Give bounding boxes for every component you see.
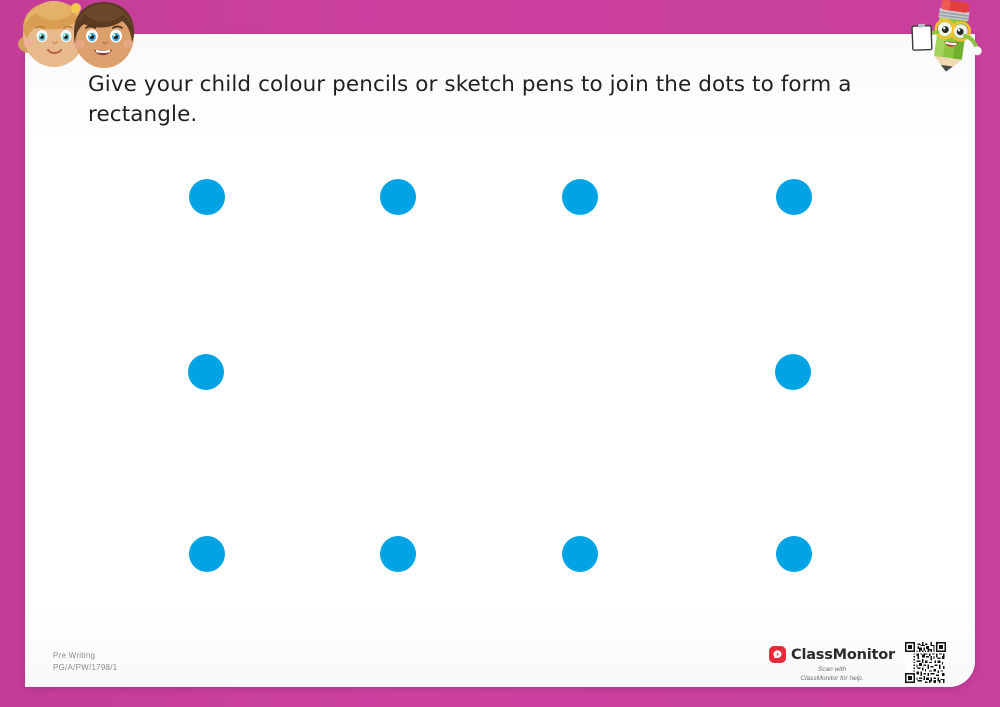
brand-tagline-line1: Scan with: [769, 666, 895, 675]
brand-tagline-line2: ClassMonitor for help.: [769, 675, 895, 684]
dot-r1-c4[interactable]: [776, 179, 812, 215]
brand-text-wrap: ClassMonitor Scan with ClassMonitor for …: [769, 642, 895, 683]
qr-code-icon[interactable]: [905, 642, 946, 683]
dot-r3-c3[interactable]: [562, 536, 598, 572]
worksheet-page: Give your child colour pencils or sketch…: [0, 0, 1000, 707]
dot-r3-c4[interactable]: [776, 536, 812, 572]
page-title: Give your child colour pencils or sketch…: [88, 70, 928, 130]
dot-r2-c1[interactable]: [188, 354, 224, 390]
dot-r3-c2[interactable]: [380, 536, 416, 572]
dot-r2-c4[interactable]: [775, 354, 811, 390]
footer-worksheet-code: Pre Writing PG/A/PW/1798/1: [53, 650, 117, 673]
footer-category: Pre Writing: [53, 650, 117, 662]
brand-row: ClassMonitor: [769, 646, 895, 663]
classmonitor-logo-icon: [769, 646, 786, 663]
dot-r1-c2[interactable]: [380, 179, 416, 215]
brand-name: ClassMonitor: [791, 647, 895, 663]
brand-block: ClassMonitor Scan with ClassMonitor for …: [769, 642, 946, 683]
pencil-mascot-icon: [910, 0, 992, 72]
dot-r3-c1[interactable]: [189, 536, 225, 572]
footer-code-value: PG/A/PW/1798/1: [53, 662, 117, 674]
two-children-faces-icon: [6, 0, 138, 68]
dot-r1-c1[interactable]: [189, 179, 225, 215]
dot-r1-c3[interactable]: [562, 179, 598, 215]
brand-tagline: Scan with ClassMonitor for help.: [769, 666, 895, 683]
dot-grid: [25, 34, 975, 687]
